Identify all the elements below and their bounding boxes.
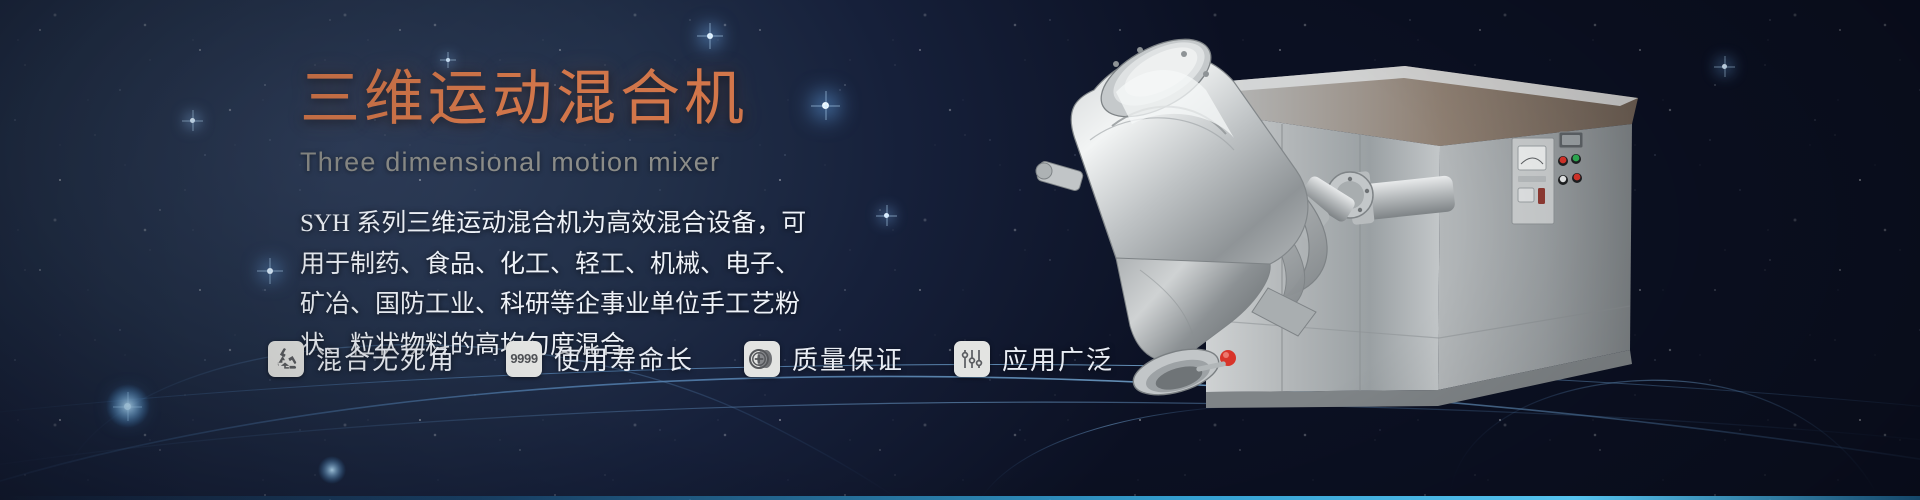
feature-list: 混合无死角 9999 使用寿命长 质量保证 [268,340,1114,377]
hero-text-block: 三维运动混合机 Three dimensional motion mixer S… [300,0,940,500]
feature-item[interactable]: 混合无死角 [268,340,456,377]
glow-star [267,268,273,274]
page-title: 三维运动混合机 [300,66,940,133]
glow-star [190,118,195,123]
page-subtitle: Three dimensional motion mixer [300,147,940,178]
product-image-mixer [1020,20,1640,440]
feature-label: 质量保证 [792,340,904,377]
coins-quality-icon [744,341,780,377]
feature-item[interactable]: 质量保证 [744,340,904,377]
counter-9999-icon: 9999 [506,341,542,377]
feature-label: 混合无死角 [316,340,456,377]
glow-star [1722,64,1727,69]
sliders-icon [954,341,990,377]
bottom-accent-bar [0,496,1920,500]
feature-item[interactable]: 应用广泛 [954,340,1114,377]
feature-label: 应用广泛 [1002,340,1114,377]
counter-value: 9999 [510,351,537,366]
recycle-icon [268,341,304,377]
hero-banner: 三维运动混合机 Three dimensional motion mixer S… [0,0,1920,500]
feature-item[interactable]: 9999 使用寿命长 [506,340,694,377]
glow-star [124,403,131,410]
feature-label: 使用寿命长 [554,340,694,377]
